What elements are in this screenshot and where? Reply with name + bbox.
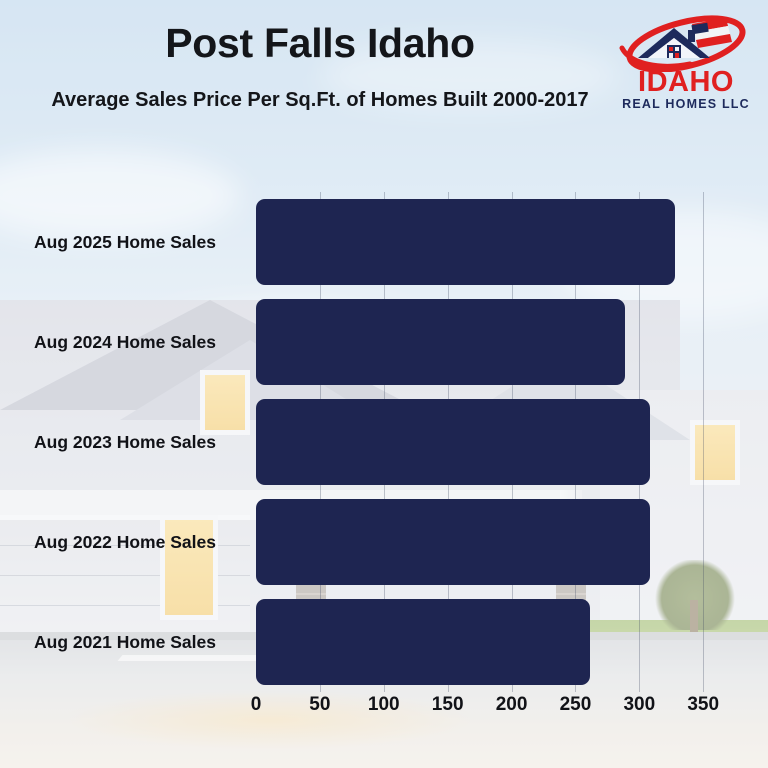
bar-row[interactable] <box>256 599 716 685</box>
x-axis-tick-labels: 050100150200250300350 <box>256 694 716 724</box>
page-title: Post Falls Idaho <box>40 22 600 65</box>
x-axis-tick-label: 0 <box>251 694 262 716</box>
y-axis-category-labels: Aug 2025 Home SalesAug 2024 Home SalesAu… <box>0 192 250 692</box>
bar-row[interactable] <box>256 299 716 385</box>
x-axis-tick-label: 200 <box>496 694 528 716</box>
y-axis-label: Aug 2024 Home Sales <box>0 299 250 385</box>
logo-wordmark: IDAHO <box>612 68 760 97</box>
company-logo[interactable]: IDAHO REAL HOMES LLC <box>612 14 760 118</box>
bar-chart: Aug 2025 Home SalesAug 2024 Home SalesAu… <box>0 178 768 718</box>
y-axis-label: Aug 2023 Home Sales <box>0 399 250 485</box>
bar[interactable] <box>256 599 590 685</box>
logo-tagline: REAL HOMES LLC <box>612 98 760 111</box>
y-axis-label: Aug 2022 Home Sales <box>0 499 250 585</box>
house-with-flag-and-swoosh-icon <box>612 14 760 72</box>
y-axis-label: Aug 2025 Home Sales <box>0 199 250 285</box>
x-axis-tick-label: 100 <box>368 694 400 716</box>
x-axis-tick-label: 50 <box>309 694 330 716</box>
infographic-canvas: Post Falls Idaho Average Sales Price Per… <box>0 0 768 768</box>
bar[interactable] <box>256 399 650 485</box>
bar-row[interactable] <box>256 499 716 585</box>
x-axis-tick-label: 250 <box>560 694 592 716</box>
bar[interactable] <box>256 199 675 285</box>
page-subtitle: Average Sales Price Per Sq.Ft. of Homes … <box>40 86 600 115</box>
bar-row[interactable] <box>256 399 716 485</box>
bar[interactable] <box>256 299 625 385</box>
x-axis-tick-label: 350 <box>687 694 719 716</box>
bar[interactable] <box>256 499 650 585</box>
bar-row[interactable] <box>256 199 716 285</box>
x-axis-tick-label: 150 <box>432 694 464 716</box>
y-axis-label: Aug 2021 Home Sales <box>0 599 250 685</box>
plot-area <box>256 192 716 692</box>
x-axis-tick-label: 300 <box>623 694 655 716</box>
bar-series <box>256 192 716 692</box>
